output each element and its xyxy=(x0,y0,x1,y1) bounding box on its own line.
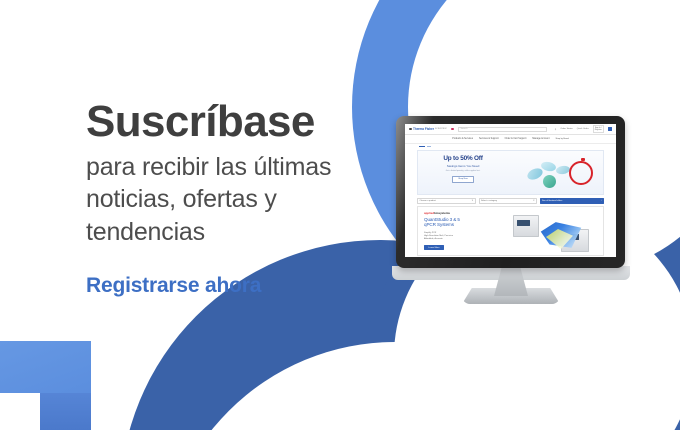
promo-artwork xyxy=(509,213,601,253)
order-status-link[interactable]: Order Status xyxy=(560,128,572,130)
hero-subheadline: Savings Items You Need xyxy=(428,164,498,168)
category-select[interactable]: Select a category ▾ xyxy=(479,198,538,204)
product-select[interactable]: Choose a product ▾ xyxy=(417,198,476,204)
banner-copy: Suscríbase para recibir las últimas noti… xyxy=(86,100,376,298)
subhead-line-3: tendencias xyxy=(86,218,205,246)
promo-title: QuantStudio 3 & 5 qPCR Systems xyxy=(424,217,476,227)
chevron-down-icon: ▾ xyxy=(472,199,473,202)
decor-corner-bar-top xyxy=(0,341,91,393)
timer-knob-icon xyxy=(581,158,585,161)
account-button[interactable]: Sign In / Register xyxy=(593,125,604,133)
site-logo-subtitle: SCIENTIFIC xyxy=(435,128,447,130)
promo-detail-1: Simplify PCR xyxy=(424,232,436,234)
monitor-mockup: Thermo Fisher SCIENTIFIC Search ⚲ Order … xyxy=(396,116,626,296)
breadcrumb-bar xyxy=(419,146,425,148)
promo-details: Simplify PCR High-Resolution Melt, Preci… xyxy=(424,232,476,241)
nav-item-services[interactable]: Services & Support xyxy=(479,138,499,140)
search-icon[interactable]: ⚲ xyxy=(555,128,557,131)
featured-offers-label: See all featured offers xyxy=(542,200,562,202)
search-input[interactable]: Search xyxy=(458,127,547,132)
hero-fine-print: Get a limited quantity, while supplies l… xyxy=(428,170,498,172)
hero-headline-prefix: Up to xyxy=(443,155,460,162)
monitor-screen: Thermo Fisher SCIENTIFIC Search ⚲ Order … xyxy=(405,124,616,257)
promo-detail-3: Affordable, Accurate xyxy=(424,238,443,240)
nav-item-order-support[interactable]: Order & Cart Support xyxy=(505,138,527,140)
hero-headline-value: 50% Off xyxy=(460,155,482,162)
hero-text-block: Up to 50% Off Savings Items You Need Get… xyxy=(428,156,498,183)
hero-headline: Up to 50% Off xyxy=(428,156,498,162)
hero-shop-now-button[interactable]: Shop Now xyxy=(452,176,474,183)
site-nav: Products & Services Services & Support O… xyxy=(405,135,616,144)
site-header: Thermo Fisher SCIENTIFIC Search ⚲ Order … xyxy=(405,124,616,135)
account-line-2: Register xyxy=(595,129,602,131)
breadcrumb-bar-secondary xyxy=(427,146,431,148)
promo-learn-more-button[interactable]: Learn More xyxy=(424,245,444,250)
breadcrumb xyxy=(405,144,616,149)
hero-promo: Up to 50% Off Savings Items You Need Get… xyxy=(417,150,604,195)
promo-brand-prefix: applied xyxy=(424,211,434,215)
timer-icon xyxy=(569,161,593,185)
monitor-bezel: Thermo Fisher SCIENTIFIC Search ⚲ Order … xyxy=(396,116,625,268)
logo-mark-icon xyxy=(409,128,412,131)
decor-corner-bar-column xyxy=(40,393,91,430)
product-select-value: Choose a product xyxy=(420,200,436,202)
promo-title-line-2: qPCR Systems xyxy=(424,222,454,227)
quick-order-link[interactable]: Quick Order xyxy=(577,128,589,130)
subhead-line-1: para recibir las últimas xyxy=(86,153,331,181)
promo-brand: appliedbiosystems xyxy=(424,211,450,215)
category-select-value: Select a category xyxy=(481,200,497,202)
featured-offers-button[interactable]: See all featured offers › xyxy=(540,198,604,204)
nav-item-shop-by-brand[interactable]: Shop by Brand xyxy=(555,138,568,140)
filter-row: Choose a product ▾ Select a category ▾ S… xyxy=(417,198,604,204)
promo-detail-2: High-Resolution Melt, Precision xyxy=(424,235,453,237)
page-title: Suscríbase xyxy=(86,100,376,145)
register-now-link[interactable]: Registrarse ahora xyxy=(86,274,261,298)
cart-icon[interactable] xyxy=(608,127,612,131)
arrow-right-icon: › xyxy=(601,200,602,202)
nav-item-manage-account[interactable]: Manage Account xyxy=(532,138,549,140)
site-logo[interactable]: Thermo Fisher xyxy=(413,127,434,131)
banner-subhead: para recibir las últimas noticias, ofert… xyxy=(86,151,376,249)
chevron-down-icon-2: ▾ xyxy=(533,199,534,202)
decor-corner-mark xyxy=(0,341,91,430)
promo-brand-suffix: biosystems xyxy=(434,211,450,215)
subscribe-banner: Suscríbase para recibir las últimas noti… xyxy=(0,0,680,430)
hero-artwork xyxy=(521,157,599,191)
search-placeholder: Search xyxy=(461,128,468,130)
lab-flask xyxy=(543,175,556,188)
subhead-line-2: noticias, ofertas y xyxy=(86,185,277,213)
nav-item-products[interactable]: Products & Services xyxy=(452,138,473,140)
product-promo-card: appliedbiosystems QuantStudio 3 & 5 qPCR… xyxy=(417,206,604,256)
website-preview: Thermo Fisher SCIENTIFIC Search ⚲ Order … xyxy=(405,124,616,257)
qpcr-instrument-1 xyxy=(513,215,539,237)
brand-accent-icon xyxy=(451,128,454,131)
instrument-display-1 xyxy=(517,220,529,226)
